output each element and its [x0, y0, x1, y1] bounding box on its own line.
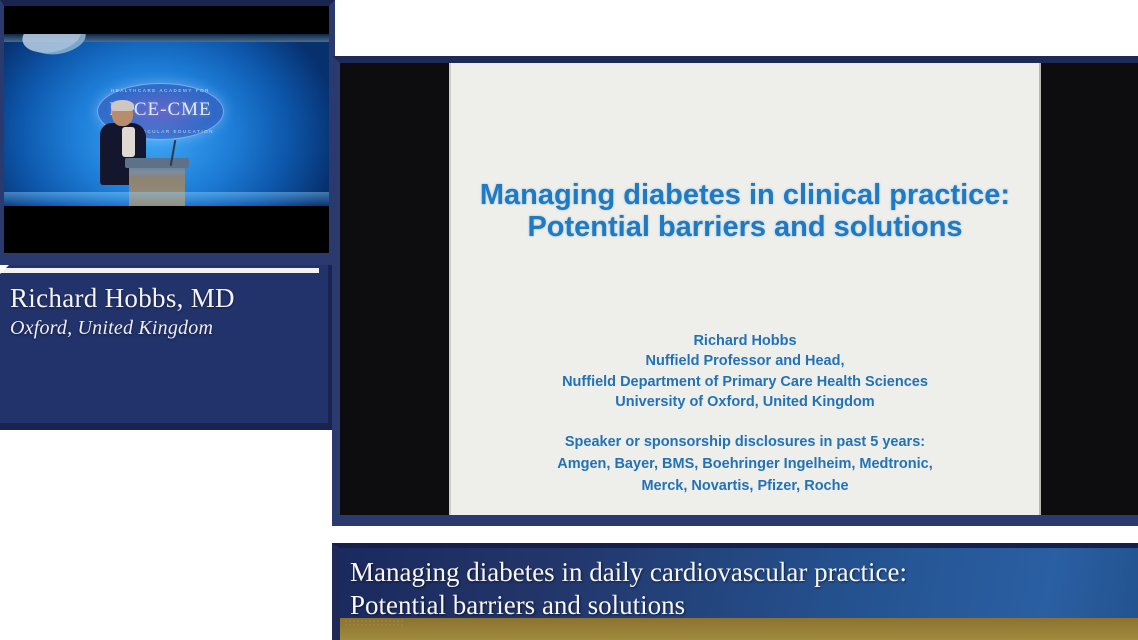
slide-affiliation-line-2: Nuffield Department of Primary Care Heal…	[562, 374, 928, 390]
video-player-frame[interactable]: HEALTHCARE ACADEMY FOR PACE-CME CARDIOVA…	[0, 0, 335, 265]
slide-title-line-2: Potential barriers and solutions	[527, 211, 962, 243]
speaker-name-plate: Richard Hobbs, MD Oxford, United Kingdom	[0, 265, 335, 430]
left-column: HEALTHCARE ACADEMY FOR PACE-CME CARDIOVA…	[0, 0, 335, 430]
speaker-name: Richard Hobbs, MD	[10, 283, 235, 314]
disclosure-line-2: Merck, Novartis, Pfizer, Roche	[451, 476, 1039, 498]
presentation-slide[interactable]: Managing diabetes in clinical practice: …	[449, 63, 1041, 515]
slide-letterbox: Managing diabetes in clinical practice: …	[340, 63, 1138, 515]
slide-disclosure-block: Speaker or sponsorship disclosures in pa…	[451, 432, 1039, 497]
video-stage-scene: HEALTHCARE ACADEMY FOR PACE-CME CARDIOVA…	[4, 34, 329, 206]
podium-top	[125, 158, 189, 168]
slide-affiliation-line-3: University of Oxford, United Kingdom	[615, 394, 874, 410]
banner-title-line-1: Managing diabetes in daily cardiovascula…	[350, 557, 907, 587]
name-plate-corner-notch	[0, 265, 9, 274]
banner-dot-pattern	[344, 619, 404, 626]
disclosure-line-1: Amgen, Bayer, BMS, Boehringer Ingelheim,…	[451, 454, 1039, 476]
video-letterbox[interactable]: HEALTHCARE ACADEMY FOR PACE-CME CARDIOVA…	[4, 6, 329, 253]
slide-affiliation-block: Richard Hobbs Nuffield Professor and Hea…	[451, 331, 1039, 412]
logo-top-text: HEALTHCARE ACADEMY FOR	[98, 88, 223, 93]
slide-presenter-name: Richard Hobbs	[693, 333, 796, 349]
banner-title-line-2: Potential barriers and solutions	[350, 590, 685, 620]
name-plate-highlight	[0, 268, 319, 273]
slide-viewer-panel[interactable]: Managing diabetes in clinical practice: …	[332, 56, 1138, 526]
banner-gold-strip	[340, 618, 1138, 640]
ceiling-light-icon	[19, 34, 85, 58]
slide-title: Managing diabetes in clinical practice: …	[451, 179, 1039, 244]
presentation-title-banner: Managing diabetes in daily cardiovascula…	[332, 543, 1138, 640]
disclosure-heading: Speaker or sponsorship disclosures in pa…	[451, 432, 1039, 454]
banner-title: Managing diabetes in daily cardiovascula…	[350, 556, 1126, 622]
slide-title-line-1: Managing diabetes in clinical practice:	[480, 179, 1010, 211]
stage-floor-glow	[4, 192, 329, 206]
speaker-hair	[111, 100, 134, 111]
speaker-location: Oxford, United Kingdom	[10, 317, 213, 340]
speaker-shirt	[122, 127, 135, 157]
slide-affiliation-line-1: Nuffield Professor and Head,	[645, 353, 844, 369]
